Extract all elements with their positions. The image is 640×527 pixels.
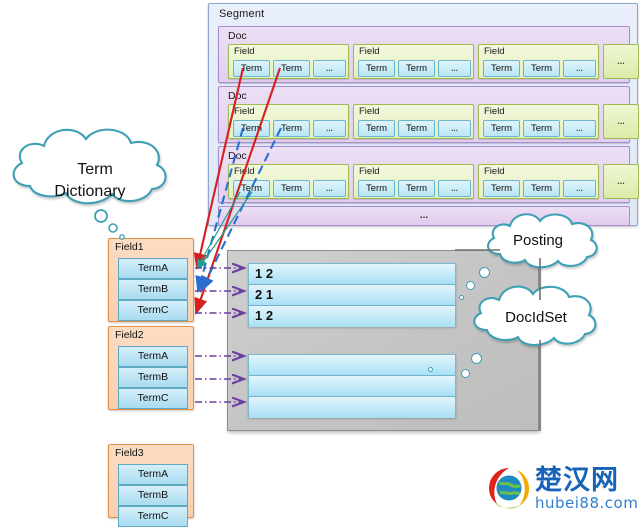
- term-chip: Term: [233, 120, 270, 137]
- bubble-icon: [459, 295, 464, 300]
- dictionary-term: TermA: [118, 258, 188, 279]
- segment-box: Segment Doc Field Term Term ... Field Te…: [208, 3, 638, 226]
- site-logo[interactable]: 楚汉网 hubei88.com: [487, 466, 635, 512]
- dictionary-term: TermA: [118, 464, 188, 485]
- posting-list: 1 2 2 1 1 2: [248, 263, 456, 327]
- term-dictionary-cloud: [14, 130, 166, 204]
- term-chip: Term: [398, 180, 435, 197]
- term-chip-more: ...: [313, 180, 346, 197]
- bubble-icon: [461, 369, 470, 378]
- field-label: Field: [234, 166, 255, 177]
- dictionary-term: TermB: [118, 279, 188, 300]
- field-box: Field Term Term ...: [478, 104, 599, 139]
- posting-row: [249, 355, 455, 376]
- field-box: Field Term Term ...: [228, 164, 349, 199]
- term-chip: Term: [523, 60, 560, 77]
- term-chip-more: ...: [563, 120, 596, 137]
- posting-row: 1 2: [249, 306, 455, 327]
- field-box: Field Term Term ...: [478, 164, 599, 199]
- posting-row: [249, 397, 455, 418]
- dictionary-field-box: Field1 TermA TermB TermC: [108, 238, 194, 322]
- field-more-box: ...: [603, 44, 639, 79]
- doc-box: Doc Field Term Term ... Field Term Term …: [218, 86, 630, 143]
- posting-panel: 1 2 2 1 1 2: [227, 250, 539, 431]
- posting-row: 1 2: [249, 264, 455, 285]
- term-chip: Term: [483, 120, 520, 137]
- posting-list: [248, 354, 456, 418]
- term-chip: Term: [358, 180, 395, 197]
- logo-text-url: hubei88.com: [535, 496, 638, 511]
- posting-row: 2 1: [249, 285, 455, 306]
- field-label: Field: [484, 46, 505, 57]
- field-box: Field Term Term ...: [228, 44, 349, 79]
- term-dictionary-label-line2: Dictionary: [15, 183, 165, 201]
- globe-icon: [487, 466, 531, 510]
- field-box: Field Term Term ...: [478, 44, 599, 79]
- field-label: Field: [484, 106, 505, 117]
- bubble-icon: [471, 353, 482, 364]
- dictionary-field-label: Field3: [115, 447, 144, 459]
- dictionary-term: TermC: [118, 388, 188, 409]
- term-chip: Term: [483, 60, 520, 77]
- bubble-icon: [479, 267, 490, 278]
- posting-row: [249, 376, 455, 397]
- term-chip: Term: [483, 180, 520, 197]
- term-chip: Term: [358, 120, 395, 137]
- dictionary-field-box: Field3 TermA TermB TermC: [108, 444, 194, 518]
- field-label: Field: [359, 46, 380, 57]
- term-chip: Term: [273, 60, 310, 77]
- bubble-icon: [109, 224, 117, 232]
- term-chip-more: ...: [438, 60, 471, 77]
- term-chip-more: ...: [438, 120, 471, 137]
- field-label: Field: [484, 166, 505, 177]
- term-chip: Term: [358, 60, 395, 77]
- doc-more-box: ...: [218, 206, 630, 226]
- posting-label: Posting: [488, 232, 588, 249]
- term-chip: Term: [273, 120, 310, 137]
- bubble-icon: [95, 210, 107, 222]
- dictionary-field-label: Field2: [115, 329, 144, 341]
- term-chip: Term: [233, 180, 270, 197]
- bubble-icon: [466, 281, 475, 290]
- term-chip-more: ...: [563, 180, 596, 197]
- term-chip: Term: [273, 180, 310, 197]
- term-chip-more: ...: [313, 60, 346, 77]
- term-chip: Term: [233, 60, 270, 77]
- doc-box: Doc Field Term Term ... Field Term Term …: [218, 146, 630, 203]
- bubble-icon: [428, 367, 433, 372]
- field-label: Field: [234, 106, 255, 117]
- doc-label: Doc: [228, 150, 247, 162]
- dictionary-term: TermB: [118, 367, 188, 388]
- doc-label: Doc: [228, 90, 247, 102]
- dictionary-field-box: Field2 TermA TermB TermC: [108, 326, 194, 410]
- field-box: Field Term Term ...: [228, 104, 349, 139]
- term-chip-more: ...: [563, 60, 596, 77]
- term-chip: Term: [398, 120, 435, 137]
- dictionary-term: TermA: [118, 346, 188, 367]
- field-box: Field Term Term ...: [353, 44, 474, 79]
- doc-box: Doc Field Term Term ... Field Term Term …: [218, 26, 630, 83]
- doc-label: Doc: [228, 30, 247, 42]
- term-chip: Term: [398, 60, 435, 77]
- field-label: Field: [359, 106, 380, 117]
- term-chip: Term: [523, 120, 560, 137]
- field-label: Field: [234, 46, 255, 57]
- dictionary-term: TermB: [118, 485, 188, 506]
- term-dictionary-label-line1: Term: [20, 161, 170, 179]
- field-label: Field: [359, 166, 380, 177]
- dictionary-term: TermC: [118, 506, 188, 527]
- field-more-box: ...: [603, 104, 639, 139]
- field-box: Field Term Term ...: [353, 164, 474, 199]
- field-box: Field Term Term ...: [353, 104, 474, 139]
- field-more-box: ...: [603, 164, 639, 199]
- term-chip-more: ...: [438, 180, 471, 197]
- segment-label: Segment: [219, 8, 264, 20]
- logo-text-cn: 楚汉网: [535, 467, 619, 495]
- dictionary-term: TermC: [118, 300, 188, 321]
- dictionary-field-label: Field1: [115, 241, 144, 253]
- term-chip-more: ...: [313, 120, 346, 137]
- term-chip: Term: [523, 180, 560, 197]
